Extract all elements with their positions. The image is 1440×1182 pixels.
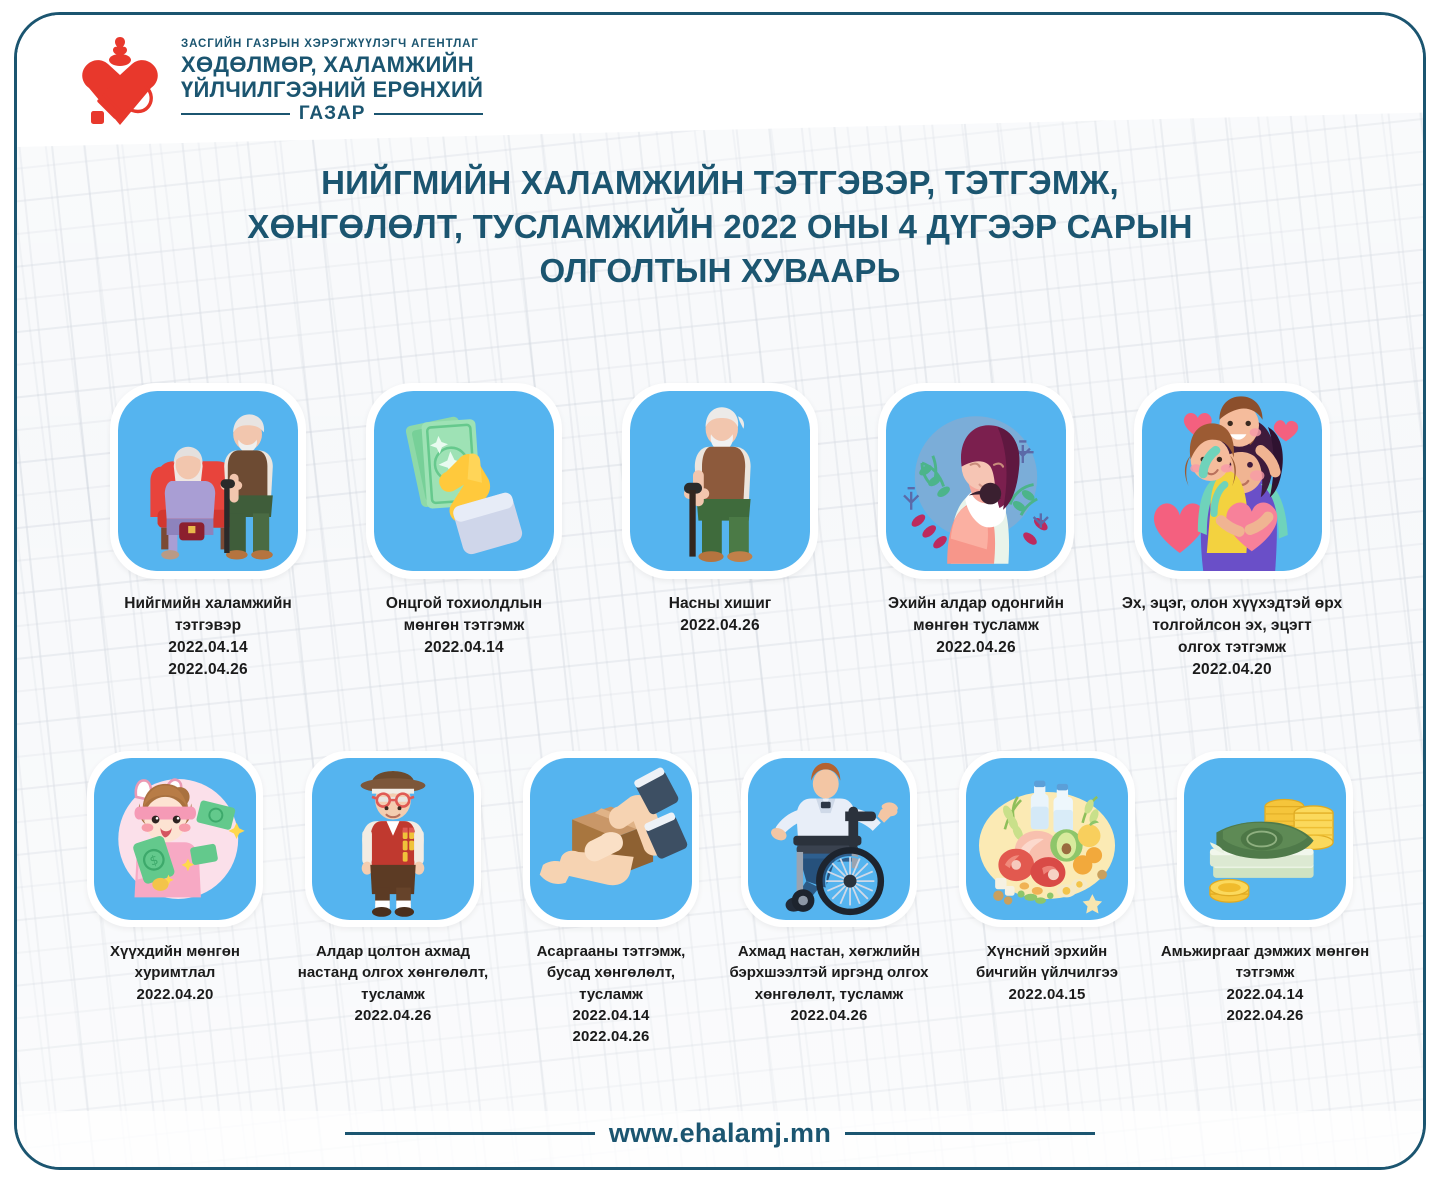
- benefit-date: 2022.04.14: [83, 637, 333, 659]
- thumbnail-frame: [1134, 383, 1330, 579]
- benefit-caption: Эхийн алдар одонгийнмөнгөн тусламж 2022.…: [851, 593, 1101, 659]
- benefit-date: 2022.04.26: [501, 1026, 721, 1047]
- org-name-line-1: ХӨДӨЛМӨР, ХАЛАМЖИЙН: [181, 53, 483, 76]
- benefit-card[interactable]: Эхийн алдар одонгийнмөнгөн тусламж 2022.…: [871, 383, 1081, 681]
- benefit-card[interactable]: $ Х: [77, 751, 273, 1047]
- benefit-date: 2022.04.26: [719, 1005, 939, 1026]
- benefit-card[interactable]: Амьжиргааг дэмжих мөнгөнтэтгэмж 2022.04.…: [1167, 751, 1363, 1047]
- thumbnail-frame: [959, 751, 1135, 927]
- benefit-label: Ахмад настан, хөгжлийнбэрхшээлтэй иргэнд…: [729, 943, 928, 1003]
- thumbnail-frame: [366, 383, 562, 579]
- thumbnail-frame: [110, 383, 306, 579]
- benefit-label: Эх, эцэг, олон хүүхэдтэй өрхтолгойлсон э…: [1122, 595, 1342, 656]
- benefit-label: Насны хишиг: [669, 595, 771, 612]
- footer-bar: www.ehalamj.mn: [17, 1118, 1423, 1149]
- page-title-line-2: ХӨНГӨЛӨЛТ, ТУСЛАМЖИЙН 2022 ОНЫ 4 ДҮГЭЭР …: [137, 205, 1303, 249]
- thumbnail-frame: $: [87, 751, 263, 927]
- benefit-label: Онцгой тохиолдлынмөнгөн тэтгэмж: [386, 595, 542, 634]
- thumbnail-frame: [1177, 751, 1353, 927]
- benefit-caption: Насны хишиг 2022.04.26: [595, 593, 845, 637]
- benefit-date: 2022.04.14: [339, 637, 589, 659]
- benefit-caption: Асаргааны тэтгэмж,бусад хөнгөлөлт,туслам…: [501, 941, 721, 1047]
- benefit-card[interactable]: Асаргааны тэтгэмж,бусад хөнгөлөлт,туслам…: [513, 751, 709, 1047]
- elderly-couple-armchair-icon: [118, 391, 298, 571]
- benefit-date: 2022.04.26: [283, 1005, 503, 1026]
- website-url[interactable]: www.ehalamj.mn: [609, 1118, 831, 1149]
- org-name-line-3-row: ГАЗАР: [181, 104, 483, 124]
- thumbnail-frame: [741, 751, 917, 927]
- benefit-caption: Эх, эцэг, олон хүүхэдтэй өрхтолгойлсон э…: [1107, 593, 1357, 681]
- org-name-line-2: ҮЙЛЧИЛГЭЭНИЙ ЕРӨНХИЙ: [181, 78, 483, 101]
- child-with-money-icon: $: [94, 758, 256, 920]
- organization-name-block: ЗАСГИЙН ГАЗРЫН ХЭРЭГЖҮҮЛЭГЧ АГЕНТЛАГ ХӨД…: [181, 38, 483, 123]
- decorated-veteran-elder-icon: [312, 758, 474, 920]
- family-with-children-icon: [1142, 391, 1322, 571]
- benefit-row-1: Нийгмийн халамжийнтэтгэвэр 2022.04.14 20…: [17, 383, 1423, 681]
- page-title-line-1: НИЙГМИЙН ХАЛАМЖИЙН ТЭТГЭВЭР, ТЭТГЭМЖ,: [137, 161, 1303, 205]
- benefit-caption: Амьжиргааг дэмжих мөнгөнтэтгэмж 2022.04.…: [1155, 941, 1375, 1026]
- benefit-label: Хүүхдийн мөнгөнхуримтлал: [110, 943, 240, 981]
- poster-frame: ЗАСГИЙН ГАЗРЫН ХЭРЭГЖҮҮЛЭГЧ АГЕНТЛАГ ХӨД…: [14, 12, 1426, 1170]
- benefit-caption: Ахмад настан, хөгжлийнбэрхшээлтэй иргэнд…: [719, 941, 939, 1026]
- thumbnail-frame: [878, 383, 1074, 579]
- benefit-date: 2022.04.26: [83, 659, 333, 681]
- benefit-card[interactable]: Алдар цолтон ахмаднастанд олгох хөнгөлөл…: [295, 751, 491, 1047]
- benefit-date: 2022.04.14: [1155, 984, 1375, 1005]
- elderly-man-cane-icon: [630, 391, 810, 571]
- benefit-date: 2022.04.20: [65, 984, 285, 1005]
- cash-and-coins-icon: [1184, 758, 1346, 920]
- benefit-caption: Хүнсний эрхийнбичгийн үйлчилгээ 2022.04.…: [937, 941, 1157, 1005]
- benefit-date: 2022.04.26: [1155, 1005, 1375, 1026]
- page-title-line-3: ОЛГОЛТЫН ХУВААРЬ: [137, 249, 1303, 293]
- benefit-date: 2022.04.26: [851, 637, 1101, 659]
- benefit-card[interactable]: Ахмад настан, хөгжлийнбэрхшээлтэй иргэнд…: [731, 751, 927, 1047]
- benefit-caption: Алдар цолтон ахмаднастанд олгох хөнгөлөл…: [283, 941, 503, 1026]
- mother-holding-baby-icon: [886, 391, 1066, 571]
- org-name-line-3: ГАЗАР: [299, 104, 366, 124]
- benefit-date: 2022.04.14: [501, 1005, 721, 1026]
- org-agency-line: ЗАСГИЙН ГАЗРЫН ХЭРЭГЖҮҮЛЭГЧ АГЕНТЛАГ: [181, 38, 483, 50]
- benefit-caption: Хүүхдийн мөнгөнхуримтлал 2022.04.20: [65, 941, 285, 1005]
- hhug-red-person-logo: [79, 33, 165, 129]
- hands-giving-box-icon: [530, 758, 692, 920]
- benefit-caption: Нийгмийн халамжийнтэтгэвэр 2022.04.14 20…: [83, 593, 333, 681]
- benefit-row-2: $ Х: [17, 751, 1423, 1047]
- benefit-label: Алдар цолтон ахмаднастанд олгох хөнгөлөл…: [298, 943, 488, 1003]
- footer-rule-left: [345, 1132, 595, 1135]
- benefit-label: Эхийн алдар одонгийнмөнгөн тусламж: [888, 595, 1064, 634]
- footer-rule-right: [845, 1132, 1095, 1135]
- benefit-label: Нийгмийн халамжийнтэтгэвэр: [124, 595, 291, 634]
- thumbnail-frame: [622, 383, 818, 579]
- divider-left: [181, 113, 290, 115]
- benefit-date: 2022.04.15: [937, 984, 1157, 1005]
- hand-holding-cash-icon: [374, 391, 554, 571]
- benefit-card[interactable]: Нийгмийн халамжийнтэтгэвэр 2022.04.14 20…: [103, 383, 313, 681]
- thumbnail-frame: [305, 751, 481, 927]
- thumbnail-frame: [523, 751, 699, 927]
- benefit-date: 2022.04.26: [595, 615, 845, 637]
- page-title: НИЙГМИЙН ХАЛАМЖИЙН ТЭТГЭВЭР, ТЭТГЭМЖ, ХӨ…: [17, 161, 1423, 294]
- benefit-card[interactable]: Хүнсний эрхийнбичгийн үйлчилгээ 2022.04.…: [949, 751, 1145, 1047]
- benefit-label: Хүнсний эрхийнбичгийн үйлчилгээ: [976, 943, 1118, 981]
- benefit-date: 2022.04.20: [1107, 659, 1357, 681]
- benefit-caption: Онцгой тохиолдлынмөнгөн тэтгэмж 2022.04.…: [339, 593, 589, 659]
- benefit-label: Асаргааны тэтгэмж,бусад хөнгөлөлт,туслам…: [537, 943, 686, 1003]
- man-in-wheelchair-icon: [748, 758, 910, 920]
- benefit-card[interactable]: Эх, эцэг, олон хүүхэдтэй өрхтолгойлсон э…: [1127, 383, 1337, 681]
- benefit-card[interactable]: Онцгой тохиолдлынмөнгөн тэтгэмж 2022.04.…: [359, 383, 569, 681]
- benefit-label: Амьжиргааг дэмжих мөнгөнтэтгэмж: [1161, 943, 1369, 981]
- benefit-card[interactable]: Насны хишиг 2022.04.26: [615, 383, 825, 681]
- food-groceries-icon: [966, 758, 1128, 920]
- divider-right: [374, 113, 483, 115]
